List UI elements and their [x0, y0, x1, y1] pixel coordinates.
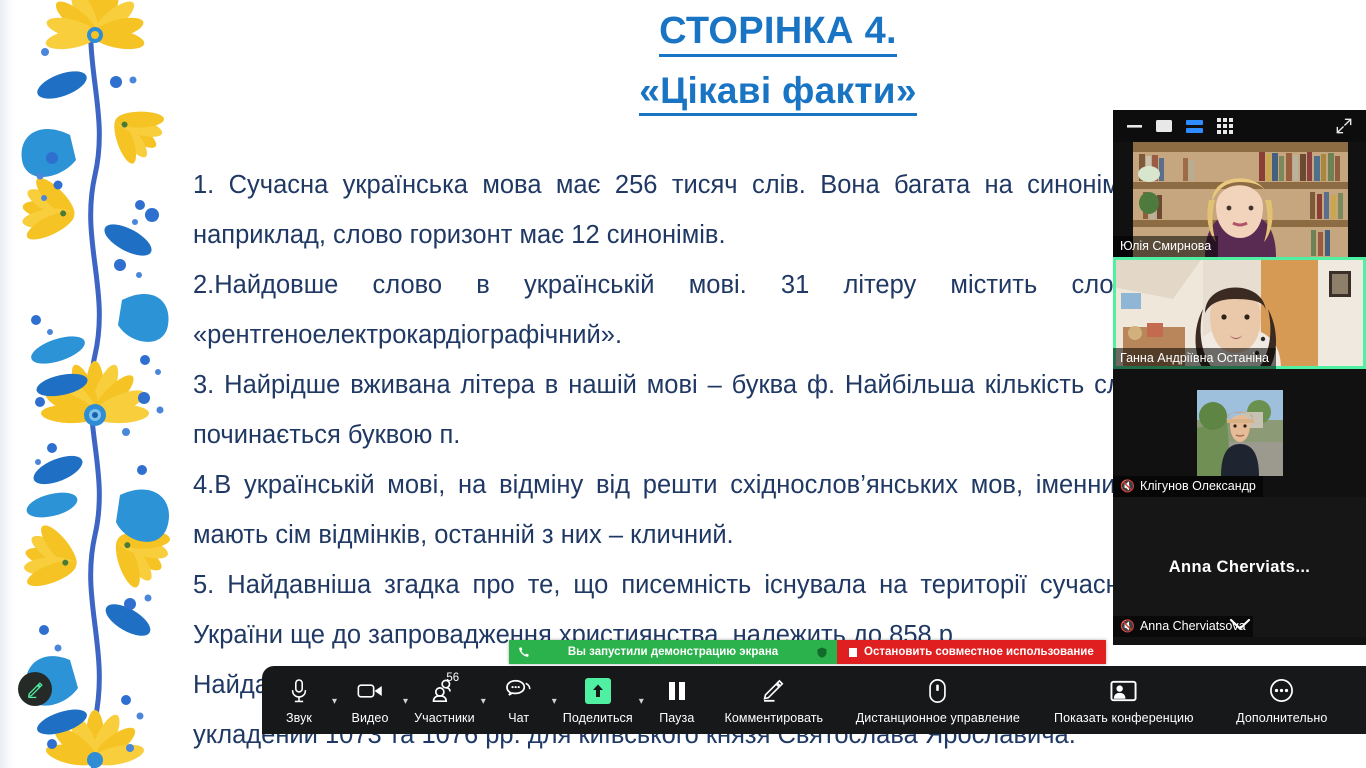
video-tile-avatar[interactable]: 🔇 Клігунов Олександр	[1113, 369, 1366, 497]
share-options-chevron-down-icon[interactable]: ▾	[637, 693, 646, 707]
zoom-meeting-toolbar: Звук ▾ Видео ▾ 56	[262, 666, 1366, 734]
video-tile-name-only[interactable]: Anna Cherviats... 🔇 Anna Cherviatsova	[1113, 497, 1366, 637]
minimize-icon[interactable]	[1127, 121, 1142, 131]
tile-3-image	[1197, 390, 1283, 476]
audio-label: Звук	[286, 711, 312, 725]
more-options-button[interactable]: Дополнительно	[1212, 670, 1352, 730]
stop-square-icon	[849, 648, 857, 657]
participant-display-name: Anna Cherviats...	[1169, 558, 1311, 577]
fact-paragraph-7: 6. Українська мова офіційно визнана одні…	[193, 760, 1141, 768]
share-control-group: Поделиться ▾	[559, 670, 646, 730]
stop-share-label: Остановить совместное использование	[864, 646, 1094, 658]
fact-paragraph-2: 2.Найдовше слово в українській мові. 31 …	[193, 260, 1141, 360]
tile-name-chip: Юлія Смирнова	[1113, 236, 1218, 257]
video-button[interactable]: Видео	[339, 670, 401, 730]
annotate-button[interactable]: Комментировать	[708, 670, 840, 730]
share-screen-button[interactable]: Поделиться	[559, 670, 637, 730]
chat-control-group: Чат ▾	[488, 670, 559, 730]
participant-name: Клігунов Олександр	[1140, 479, 1256, 493]
window-view-icon[interactable]	[1156, 120, 1172, 132]
participants-count-badge: 56	[446, 672, 459, 684]
audio-options-chevron-down-icon[interactable]: ▾	[330, 693, 339, 707]
pause-label: Пауза	[659, 711, 694, 725]
border-edge-shade	[0, 0, 14, 768]
expand-arrow-icon[interactable]	[1336, 118, 1352, 134]
screen-share-status-bar: Вы запустили демонстрацию экрана Останов…	[509, 640, 1106, 664]
fact-paragraph-1: 1. Сучасна українська мова має 256 тисяч…	[193, 160, 1141, 260]
share-screen-icon	[585, 678, 611, 704]
ellipsis-more-icon	[1269, 678, 1294, 703]
share-status-label: Вы запустили демонстрацию экрана	[540, 646, 806, 658]
video-options-chevron-down-icon[interactable]: ▾	[401, 693, 410, 707]
avatar	[1197, 390, 1283, 476]
participants-button[interactable]: 56 Участники	[410, 670, 479, 730]
screen-share-slide-view: СТОРІНКА 4. «Цікаві факти» 1. Сучасна ук…	[0, 0, 1366, 768]
video-tile-active-speaker[interactable]: Ганна Андріївна Останіна	[1113, 257, 1366, 369]
pencil-annotate-icon	[26, 680, 45, 699]
share-status-section: Вы запустили демонстрацию экрана	[509, 640, 837, 664]
pencil-annotate-icon	[762, 678, 786, 703]
remote-control-label: Дистанционное управление	[856, 711, 1020, 725]
shield-icon	[816, 646, 828, 659]
strip-view-icon[interactable]	[1186, 120, 1203, 133]
show-meeting-button[interactable]: Показать конференцию	[1036, 670, 1212, 730]
chat-label: Чат	[508, 711, 529, 725]
chat-options-chevron-down-icon[interactable]: ▾	[550, 693, 559, 707]
video-label: Видео	[352, 711, 389, 725]
decorative-floral-border	[0, 0, 190, 768]
remote-control-button[interactable]: Дистанционное управление	[840, 670, 1036, 730]
pause-button[interactable]: Пауза	[646, 670, 708, 730]
page-title-line-2: «Цікаві факти»	[639, 70, 916, 116]
tile-name-chip: Ганна Андріївна Останіна	[1113, 348, 1276, 369]
share-screen-label: Поделиться	[563, 711, 633, 725]
video-control-group: Видео ▾	[339, 670, 410, 730]
annotate-label: Комментировать	[724, 711, 823, 725]
participants-control-group: 56 Участники ▾	[410, 670, 488, 730]
page-title-line-1: СТОРІНКА 4.	[659, 10, 897, 57]
pause-icon	[666, 679, 688, 703]
floral-ornament-svg	[0, 0, 190, 768]
grid-view-icon[interactable]	[1217, 118, 1233, 134]
filmstrip-header	[1113, 110, 1366, 142]
video-camera-icon	[357, 681, 384, 701]
phone-icon	[518, 646, 530, 658]
chat-button[interactable]: Чат	[488, 670, 550, 730]
show-meeting-label: Показать конференцию	[1054, 711, 1194, 725]
chevron-down-icon	[1229, 618, 1251, 631]
fact-paragraph-4: 4.В українській мові, на відміну від реш…	[193, 460, 1141, 560]
audio-button[interactable]: Звук	[268, 670, 330, 730]
mouse-remote-control-icon	[928, 678, 947, 704]
microphone-icon	[288, 678, 310, 704]
participant-name: Юлія Смирнова	[1120, 239, 1211, 253]
filmstrip-scroll-down-button[interactable]	[1113, 618, 1366, 631]
participants-options-chevron-down-icon[interactable]: ▾	[479, 693, 488, 707]
stop-share-button[interactable]: Остановить совместное использование	[837, 640, 1106, 664]
muted-microphone-icon: 🔇	[1120, 480, 1135, 492]
participants-label: Участники	[414, 711, 475, 725]
tile-name-chip: 🔇 Клігунов Олександр	[1113, 476, 1263, 497]
participant-name: Ганна Андріївна Останіна	[1120, 351, 1269, 365]
fact-paragraph-3: 3. Найрідше вживана літера в нашій мові …	[193, 360, 1141, 460]
annotate-floating-button[interactable]	[18, 672, 52, 706]
audio-control-group: Звук ▾	[268, 670, 339, 730]
chat-bubble-icon	[506, 679, 531, 703]
page-title: СТОРІНКА 4. «Цікаві факти»	[190, 10, 1366, 116]
zoom-video-filmstrip-panel: Юлія Смирнова	[1113, 110, 1366, 645]
video-tile[interactable]: Юлія Смирнова	[1113, 142, 1366, 257]
show-meeting-icon	[1110, 680, 1137, 702]
more-options-label: Дополнительно	[1236, 711, 1327, 725]
